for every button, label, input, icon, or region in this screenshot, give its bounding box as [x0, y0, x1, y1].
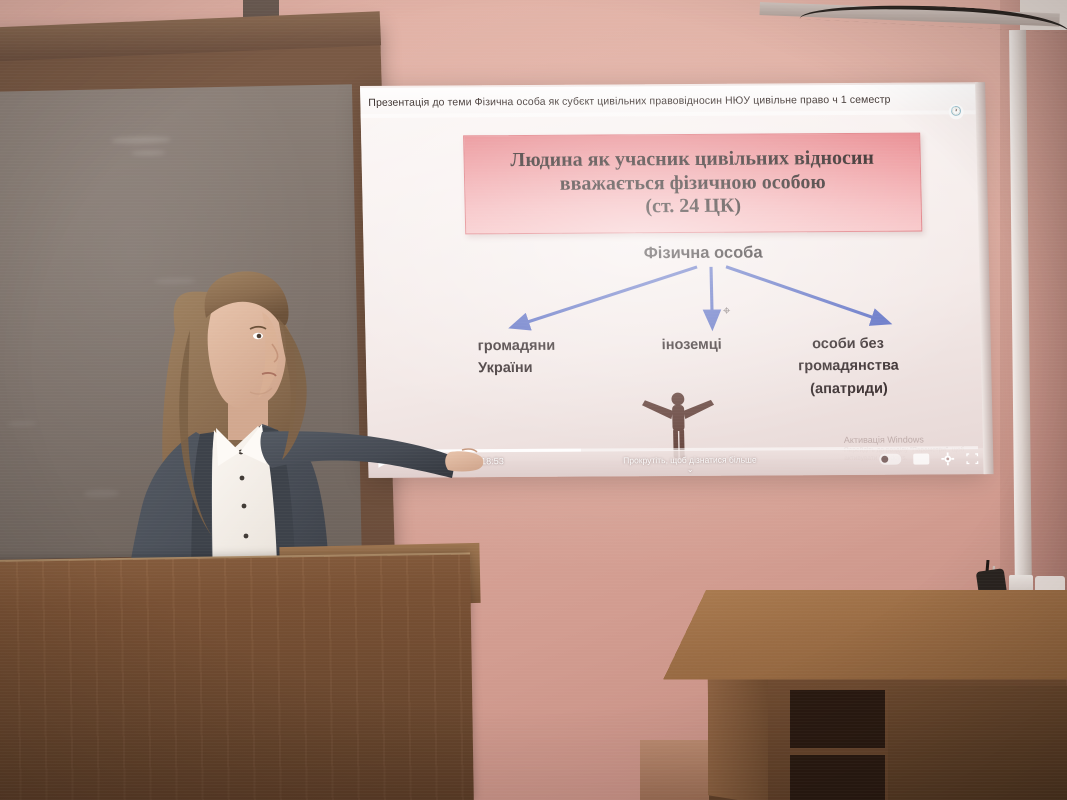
- lecture-room-photo: Людина як учасник цивільних відносин вва…: [0, 0, 1067, 800]
- lectern: [0, 554, 474, 800]
- lectern-wood-grain: [0, 554, 474, 800]
